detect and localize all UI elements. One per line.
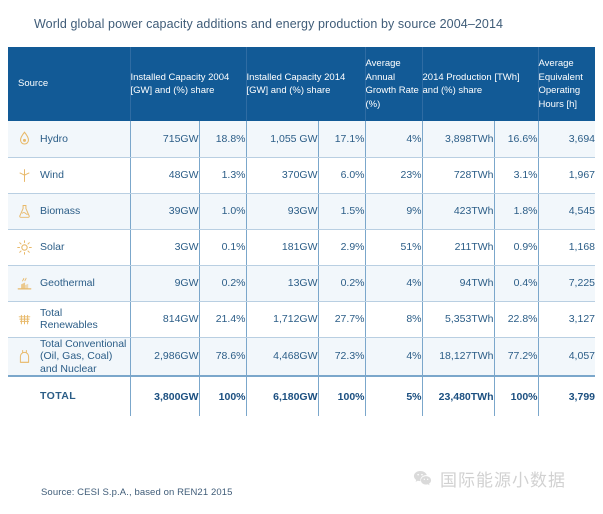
energy-capacity-table: Source Installed Capacity 2004 [GW] and … bbox=[8, 47, 595, 416]
cell-production: 423TWh bbox=[422, 193, 494, 229]
cell-source: TOTAL bbox=[8, 376, 130, 416]
cell-production-share: 100% bbox=[494, 376, 538, 416]
cell-capacity-2004: 9GW bbox=[130, 265, 199, 301]
cell-capacity-2014: 181GW bbox=[246, 229, 318, 265]
table-row: Geothermal 9GW 0.2% 13GW 0.2% 4% 94TWh 0… bbox=[8, 265, 595, 301]
column-header-source: Source bbox=[8, 47, 130, 121]
cell-production: 728TWh bbox=[422, 157, 494, 193]
cell-capacity-2004: 3,800GW bbox=[130, 376, 199, 416]
cell-share-2004: 78.6% bbox=[199, 337, 246, 376]
cell-capacity-2014: 1,055 GW bbox=[246, 121, 318, 157]
cell-capacity-2014: 370GW bbox=[246, 157, 318, 193]
cell-operating-hours: 3,799 bbox=[538, 376, 595, 416]
cell-capacity-2004: 39GW bbox=[130, 193, 199, 229]
cell-production: 94TWh bbox=[422, 265, 494, 301]
cell-share-2004: 18.8% bbox=[199, 121, 246, 157]
table-header-row: Source Installed Capacity 2004 [GW] and … bbox=[8, 47, 595, 121]
watermark-text: 国际能源小数据 bbox=[440, 466, 566, 491]
wechat-icon bbox=[412, 468, 433, 489]
page-title: World global power capacity additions an… bbox=[34, 16, 579, 32]
cell-operating-hours: 1,168 bbox=[538, 229, 595, 265]
source-label: Total Conventional (Oil, Gas, Coal) and … bbox=[40, 338, 126, 376]
table-row: Solar 3GW 0.1% 181GW 2.9% 51% 211TWh 0.9… bbox=[8, 229, 595, 265]
data-table-container: Source Installed Capacity 2004 [GW] and … bbox=[8, 47, 595, 416]
cell-production-share: 3.1% bbox=[494, 157, 538, 193]
cell-source: Wind bbox=[8, 157, 130, 193]
cell-production-share: 0.4% bbox=[494, 265, 538, 301]
renewables-icon bbox=[16, 311, 33, 328]
cell-share-2014: 6.0% bbox=[318, 157, 365, 193]
table-row: Total Conventional (Oil, Gas, Coal) and … bbox=[8, 337, 595, 376]
cell-source: Biomass bbox=[8, 193, 130, 229]
cell-capacity-2014: 13GW bbox=[246, 265, 318, 301]
cell-share-2014: 2.9% bbox=[318, 229, 365, 265]
table-row: Hydro 715GW 18.8% 1,055 GW 17.1% 4% 3,89… bbox=[8, 121, 595, 157]
cell-share-2004: 1.0% bbox=[199, 193, 246, 229]
cell-share-2014: 100% bbox=[318, 376, 365, 416]
watermark: 国际能源小数据 bbox=[412, 466, 566, 491]
cell-source: Total Renewables bbox=[8, 301, 130, 337]
cell-growth-rate: 9% bbox=[365, 193, 422, 229]
cell-production-share: 1.8% bbox=[494, 193, 538, 229]
wind-turbine-icon bbox=[16, 167, 33, 184]
cell-capacity-2004: 814GW bbox=[130, 301, 199, 337]
cell-capacity-2004: 2,986GW bbox=[130, 337, 199, 376]
cell-share-2004: 21.4% bbox=[199, 301, 246, 337]
column-header-installed-capacity-2014: Installed Capacity 2014 [GW] and (%) sha… bbox=[246, 47, 365, 121]
geothermal-icon bbox=[16, 275, 33, 292]
cell-share-2004: 1.3% bbox=[199, 157, 246, 193]
cell-share-2014: 27.7% bbox=[318, 301, 365, 337]
source-label: Solar bbox=[40, 241, 65, 254]
source-label: Biomass bbox=[40, 205, 80, 218]
column-header-average-equivalent-operating-hours: Average Equivalent Operating Hours [h] bbox=[538, 47, 595, 121]
cell-capacity-2004: 715GW bbox=[130, 121, 199, 157]
cell-growth-rate: 23% bbox=[365, 157, 422, 193]
cell-share-2004: 0.1% bbox=[199, 229, 246, 265]
table-row: Wind 48GW 1.3% 370GW 6.0% 23% 728TWh 3.1… bbox=[8, 157, 595, 193]
cell-share-2014: 72.3% bbox=[318, 337, 365, 376]
cell-growth-rate: 8% bbox=[365, 301, 422, 337]
cell-production: 5,353TWh bbox=[422, 301, 494, 337]
cell-production-share: 0.9% bbox=[494, 229, 538, 265]
cell-share-2014: 17.1% bbox=[318, 121, 365, 157]
cell-source: Geothermal bbox=[8, 265, 130, 301]
column-header-2014-production: 2014 Production [TWh] and (%) share bbox=[422, 47, 538, 121]
cell-growth-rate: 4% bbox=[365, 121, 422, 157]
cell-share-2014: 0.2% bbox=[318, 265, 365, 301]
cell-source: Solar bbox=[8, 229, 130, 265]
cell-production-share: 16.6% bbox=[494, 121, 538, 157]
cell-source: Hydro bbox=[8, 121, 130, 157]
cell-growth-rate: 4% bbox=[365, 265, 422, 301]
cell-capacity-2004: 48GW bbox=[130, 157, 199, 193]
cell-capacity-2014: 1,712GW bbox=[246, 301, 318, 337]
cell-capacity-2004: 3GW bbox=[130, 229, 199, 265]
cell-production: 23,480TWh bbox=[422, 376, 494, 416]
table-row: Biomass 39GW 1.0% 93GW 1.5% 9% 423TWh 1.… bbox=[8, 193, 595, 229]
source-label: Geothermal bbox=[40, 277, 95, 290]
table-header: Source Installed Capacity 2004 [GW] and … bbox=[8, 47, 595, 121]
cell-operating-hours: 3,127 bbox=[538, 301, 595, 337]
page-root: World global power capacity additions an… bbox=[0, 0, 603, 514]
cell-growth-rate: 4% bbox=[365, 337, 422, 376]
source-label: Hydro bbox=[40, 133, 68, 146]
cell-capacity-2014: 4,468GW bbox=[246, 337, 318, 376]
biomass-icon bbox=[16, 203, 33, 220]
cell-capacity-2014: 93GW bbox=[246, 193, 318, 229]
cell-production-share: 77.2% bbox=[494, 337, 538, 376]
source-note: Source: CESI S.p.A., based on REN21 2015 bbox=[41, 487, 232, 498]
cell-growth-rate: 5% bbox=[365, 376, 422, 416]
cell-share-2014: 1.5% bbox=[318, 193, 365, 229]
sun-icon bbox=[16, 239, 33, 256]
water-drop-icon bbox=[16, 130, 33, 147]
source-label: TOTAL bbox=[40, 390, 76, 403]
cell-operating-hours: 4,545 bbox=[538, 193, 595, 229]
source-label: Wind bbox=[40, 169, 64, 182]
cell-operating-hours: 7,225 bbox=[538, 265, 595, 301]
table-body: Hydro 715GW 18.8% 1,055 GW 17.1% 4% 3,89… bbox=[8, 121, 595, 416]
source-label: Total Renewables bbox=[40, 307, 98, 332]
cell-share-2004: 100% bbox=[199, 376, 246, 416]
cell-production: 211TWh bbox=[422, 229, 494, 265]
cell-production-share: 22.8% bbox=[494, 301, 538, 337]
cell-production: 18,127TWh bbox=[422, 337, 494, 376]
cell-production: 3,898TWh bbox=[422, 121, 494, 157]
cell-operating-hours: 4,057 bbox=[538, 337, 595, 376]
cell-capacity-2014: 6,180GW bbox=[246, 376, 318, 416]
cell-share-2004: 0.2% bbox=[199, 265, 246, 301]
cell-growth-rate: 51% bbox=[365, 229, 422, 265]
cell-source: Total Conventional (Oil, Gas, Coal) and … bbox=[8, 337, 130, 376]
cell-operating-hours: 1,967 bbox=[538, 157, 595, 193]
table-row: Total Renewables 814GW 21.4% 1,712GW 27.… bbox=[8, 301, 595, 337]
column-header-average-annual-growth-rate: Average Annual Growth Rate (%) bbox=[365, 47, 422, 121]
cell-operating-hours: 3,694 bbox=[538, 121, 595, 157]
conventional-plant-icon bbox=[16, 348, 33, 365]
column-header-installed-capacity-2004: Installed Capacity 2004 [GW] and (%) sha… bbox=[130, 47, 246, 121]
table-row-total: TOTAL 3,800GW 100% 6,180GW 100% 5% 23,48… bbox=[8, 376, 595, 416]
